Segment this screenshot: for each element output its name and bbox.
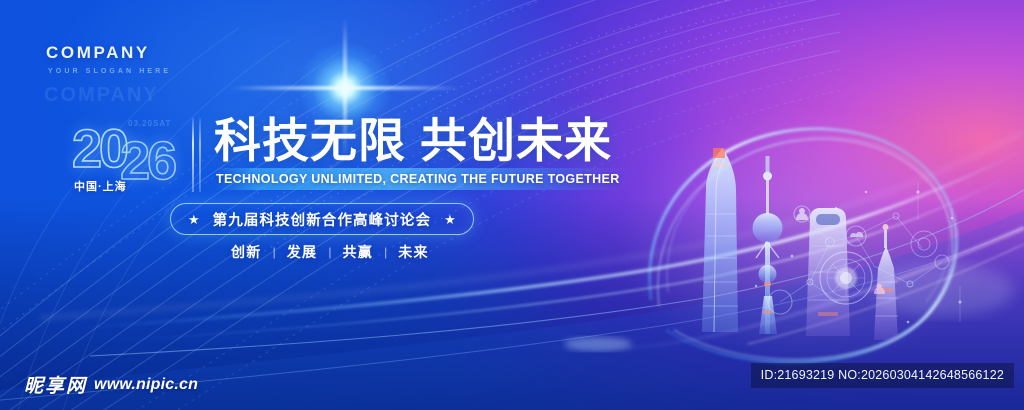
user-node: [796, 208, 808, 220]
keyword-separator: |: [384, 245, 387, 259]
image-id-text: ID:21693219 NO:20260304142648566122: [761, 368, 1004, 382]
main-title-right: 共创未来: [420, 114, 612, 167]
event-badge: ★ 第九届科技创新合作高峰讨论会 ★: [170, 203, 474, 235]
oriental-pearl-tower: [753, 156, 783, 334]
watermark-logo-char: 网: [66, 371, 85, 398]
micro-date: 03.20SAT: [128, 119, 171, 128]
main-title-left: 科技无限: [214, 114, 406, 167]
watermark-logo: 昵 享 网: [24, 371, 85, 398]
keyword-item: 发展: [287, 242, 318, 262]
year-suffix: 26: [120, 130, 174, 192]
cloud-node: [850, 232, 863, 237]
vertical-divider: [192, 118, 204, 192]
company-slogan: YOUR SLOGAN HERE: [48, 68, 171, 75]
company-brand: COMPANY YOUR SLOGAN HERE: [46, 44, 171, 75]
keyword-item: 未来: [398, 242, 429, 262]
keyword-row: 创新 | 发展 | 共赢 | 未来: [231, 242, 429, 262]
keyword-item: 共赢: [342, 242, 373, 262]
company-name: COMPANY: [46, 44, 171, 61]
site-watermark: 昵 享 网 www.nipic.cn: [24, 371, 198, 398]
image-id-strip: ID:21693219 NO:20260304142648566122: [751, 363, 1014, 388]
star-left-icon: ★: [188, 213, 200, 226]
subtitle-bar: TECHNOLOGY UNLIMITED, CREATING THE FUTUR…: [214, 168, 630, 190]
jin-mao-tower: [874, 224, 898, 340]
watermark-logo-char: 享: [45, 371, 64, 398]
subtitle-text: TECHNOLOGY UNLIMITED, CREATING THE FUTUR…: [214, 172, 620, 186]
star-right-icon: ★: [444, 213, 456, 226]
ring-node: [911, 231, 937, 257]
skyline-artwork: [660, 96, 990, 346]
year-column: 2026 03.20SAT 中国·上海: [72, 116, 190, 200]
shanghai-tower: [702, 148, 738, 332]
headline-block: 2026 03.20SAT 中国·上海 科技无限共创未来 TECHNOLOGY …: [72, 116, 630, 200]
city-label: 中国·上海: [74, 178, 127, 194]
keyword-separator: |: [328, 245, 331, 259]
main-title: 科技无限共创未来: [214, 116, 630, 166]
poster-canvas: COMPANY COMPANY YOUR SLOGAN HERE 2026 03…: [0, 0, 1024, 410]
event-badge-text: 第九届科技创新合作高峰讨论会: [213, 209, 431, 230]
keyword-item: 创新: [231, 242, 262, 262]
year-prefix: 20: [72, 119, 126, 179]
tech-network: [755, 182, 962, 323]
company-ghost-text: COMPANY: [44, 84, 159, 107]
keyword-separator: |: [273, 245, 276, 259]
watermark-logo-char: 昵: [24, 371, 43, 398]
title-column: 科技无限共创未来 TECHNOLOGY UNLIMITED, CREATING …: [214, 116, 630, 190]
globe-node: [820, 252, 872, 304]
watermark-url: www.nipic.cn: [94, 376, 198, 394]
